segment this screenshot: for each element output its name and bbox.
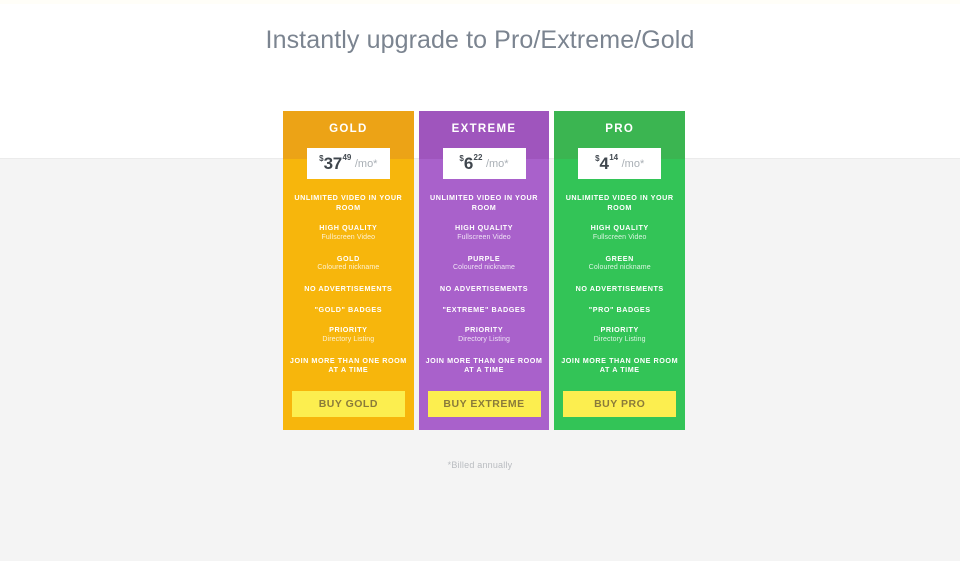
feature-title: NO ADVERTISEMENTS <box>288 284 409 294</box>
billing-footnote: *Billed annually <box>0 460 960 470</box>
feature-sub: Directory Listing <box>288 335 409 345</box>
feature-sub: Directory Listing <box>559 335 680 345</box>
price-cents-extreme: 22 <box>474 153 483 162</box>
feature-title: "PRO" BADGES <box>559 305 680 315</box>
feature-item: JOIN MORE THAN ONE ROOM AT A TIME <box>559 356 680 375</box>
feature-item: PRIORITY Directory Listing <box>424 325 545 345</box>
buy-pro-button[interactable]: BUY PRO <box>563 391 676 417</box>
feature-title: HIGH QUALITY <box>424 223 545 233</box>
feature-title: HIGH QUALITY <box>288 223 409 233</box>
feature-item: "GOLD" BADGES <box>288 305 409 315</box>
feature-title: "GOLD" BADGES <box>288 305 409 315</box>
feature-title: NO ADVERTISEMENTS <box>424 284 545 294</box>
feature-title: NO ADVERTISEMENTS <box>559 284 680 294</box>
pricing-card-gold[interactable]: GOLD $3749 /mo* UNLIMITED VIDEO IN YOUR … <box>283 111 414 430</box>
feature-item: UNLIMITED VIDEO IN YOUR ROOM <box>288 193 409 212</box>
pricing-card-pro[interactable]: PRO $414 /mo* UNLIMITED VIDEO IN YOUR RO… <box>554 111 685 430</box>
price-plate-extreme: $622 /mo* <box>443 148 526 179</box>
plan-name-extreme: EXTREME <box>452 123 517 135</box>
feature-list-gold: UNLIMITED VIDEO IN YOUR ROOM HIGH QUALIT… <box>283 193 414 391</box>
price-cents-gold: 49 <box>342 153 351 162</box>
price-whole-extreme: 6 <box>464 154 473 174</box>
feature-sub: Fullscreen Video <box>424 233 545 243</box>
feature-item: HIGH QUALITY Fullscreen Video <box>288 223 409 243</box>
feature-title: PRIORITY <box>559 325 680 335</box>
pricing-cards: GOLD $3749 /mo* UNLIMITED VIDEO IN YOUR … <box>283 111 685 430</box>
feature-title: JOIN MORE THAN ONE ROOM AT A TIME <box>288 356 409 375</box>
price-currency-pro: $ <box>595 154 599 163</box>
feature-title: JOIN MORE THAN ONE ROOM AT A TIME <box>559 356 680 375</box>
page-title: Instantly upgrade to Pro/Extreme/Gold <box>0 26 960 55</box>
feature-item: NO ADVERTISEMENTS <box>424 284 545 294</box>
price-currency-extreme: $ <box>459 154 463 163</box>
feature-sub: Coloured nickname <box>288 263 409 273</box>
feature-item: GREEN Coloured nickname <box>559 254 680 274</box>
feature-sub: Fullscreen Video <box>559 233 680 243</box>
price-currency-gold: $ <box>319 154 323 163</box>
price-plate-pro: $414 /mo* <box>578 148 661 179</box>
feature-item: NO ADVERTISEMENTS <box>288 284 409 294</box>
price-cents-pro: 14 <box>609 153 618 162</box>
feature-item: GOLD Coloured nickname <box>288 254 409 274</box>
feature-item: JOIN MORE THAN ONE ROOM AT A TIME <box>288 356 409 375</box>
feature-title: UNLIMITED VIDEO IN YOUR ROOM <box>424 193 545 212</box>
feature-item: UNLIMITED VIDEO IN YOUR ROOM <box>559 193 680 212</box>
price-period-extreme: /mo* <box>486 158 509 170</box>
price-plate-gold: $3749 /mo* <box>307 148 390 179</box>
feature-title: PRIORITY <box>424 325 545 335</box>
feature-title: PURPLE <box>424 254 545 264</box>
feature-item: PRIORITY Directory Listing <box>288 325 409 345</box>
feature-sub: Fullscreen Video <box>288 233 409 243</box>
feature-item: NO ADVERTISEMENTS <box>559 284 680 294</box>
buy-gold-button[interactable]: BUY GOLD <box>292 391 405 417</box>
feature-list-extreme: UNLIMITED VIDEO IN YOUR ROOM HIGH QUALIT… <box>419 193 550 391</box>
feature-item: "EXTREME" BADGES <box>424 305 545 315</box>
pricing-card-extreme[interactable]: EXTREME $622 /mo* UNLIMITED VIDEO IN YOU… <box>419 111 550 430</box>
feature-sub: Coloured nickname <box>559 263 680 273</box>
feature-title: GOLD <box>288 254 409 264</box>
price-period-gold: /mo* <box>355 158 378 170</box>
feature-sub: Directory Listing <box>424 335 545 345</box>
plan-name-pro: PRO <box>605 123 634 135</box>
price-whole-pro: 4 <box>600 154 609 174</box>
feature-item: PURPLE Coloured nickname <box>424 254 545 274</box>
feature-item: JOIN MORE THAN ONE ROOM AT A TIME <box>424 356 545 375</box>
feature-item: "PRO" BADGES <box>559 305 680 315</box>
page-top-strip <box>0 0 960 4</box>
feature-title: GREEN <box>559 254 680 264</box>
feature-item: HIGH QUALITY Fullscreen Video <box>559 223 680 243</box>
price-period-pro: /mo* <box>622 158 645 170</box>
feature-item: UNLIMITED VIDEO IN YOUR ROOM <box>424 193 545 212</box>
feature-item: PRIORITY Directory Listing <box>559 325 680 345</box>
feature-title: HIGH QUALITY <box>559 223 680 233</box>
price-whole-gold: 37 <box>324 154 342 174</box>
feature-title: JOIN MORE THAN ONE ROOM AT A TIME <box>424 356 545 375</box>
feature-title: UNLIMITED VIDEO IN YOUR ROOM <box>559 193 680 212</box>
buy-extreme-button[interactable]: BUY EXTREME <box>428 391 541 417</box>
feature-sub: Coloured nickname <box>424 263 545 273</box>
feature-title: UNLIMITED VIDEO IN YOUR ROOM <box>288 193 409 212</box>
feature-title: PRIORITY <box>288 325 409 335</box>
feature-list-pro: UNLIMITED VIDEO IN YOUR ROOM HIGH QUALIT… <box>554 193 685 391</box>
feature-title: "EXTREME" BADGES <box>424 305 545 315</box>
feature-item: HIGH QUALITY Fullscreen Video <box>424 223 545 243</box>
plan-name-gold: GOLD <box>329 123 367 135</box>
